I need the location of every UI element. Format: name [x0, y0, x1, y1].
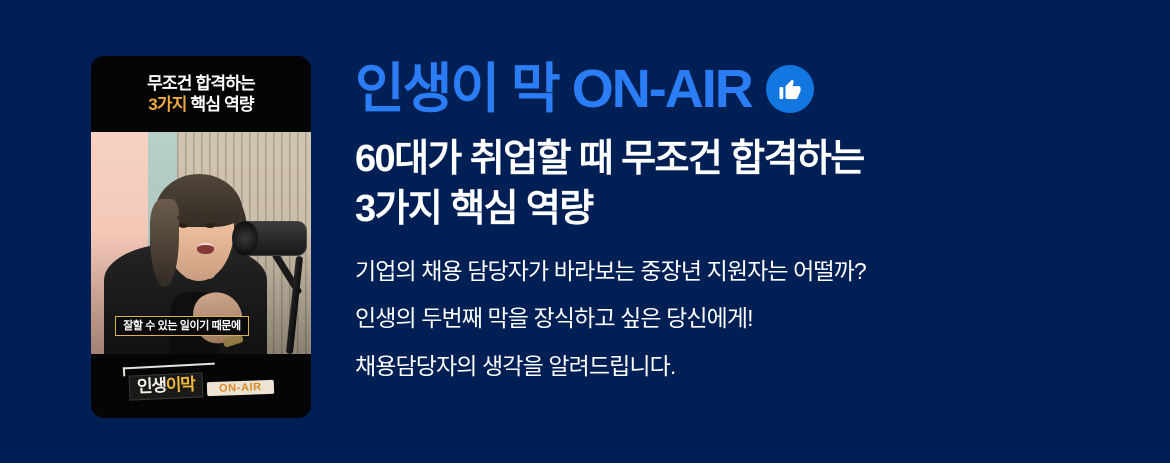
- description-line-1: 기업의 채용 담당자가 바라보는 중장년 지원자는 어떨까?: [355, 258, 1145, 285]
- description-block: 기업의 채용 담당자가 바라보는 중장년 지원자는 어떨까? 인생의 두번째 막…: [355, 258, 1145, 379]
- thumbnail-header-line1: 무조건 합격하는: [147, 74, 255, 93]
- thumbnail-header-accent: 3가지: [148, 95, 186, 114]
- promo-banner: 무조건 합격하는 3가지 핵심 역량: [0, 0, 1170, 463]
- thumbnail-header-line2: 3가지 핵심 역량: [148, 95, 254, 114]
- page-subtitle: 60대가 취업할 때 무조건 합격하는 3가지 핵심 역량: [355, 134, 1145, 234]
- title-row: 인생이 막 ON-AIR: [355, 56, 1145, 122]
- logo-text-gold: 이막: [165, 374, 195, 394]
- logo-text-white: 인생: [136, 376, 166, 396]
- subtitle-line-2: 3가지 핵심 역량: [355, 184, 1145, 234]
- thumbnail-subtitle-caption: 잘할 수 있는 일이기 때문에: [115, 316, 249, 337]
- description-line-2: 인생의 두번째 막을 장식하고 싶은 당신에게!: [355, 305, 1145, 332]
- thumbnail-photo: 잘할 수 있는 일이기 때문에: [91, 132, 311, 354]
- thumbnail-footer: 인생이막 ON-AIR: [91, 354, 311, 418]
- logo-wordmark: 인생이막: [128, 372, 203, 400]
- thumbs-up-icon[interactable]: [766, 65, 814, 113]
- thumbnail-header: 무조건 합격하는 3가지 핵심 역량: [91, 56, 311, 132]
- banner-content: 인생이 막 ON-AIR 60대가 취업할 때 무조건 합격하는 3가지 핵심 …: [355, 56, 1145, 380]
- thumbnail-header-rest: 핵심 역량: [187, 95, 254, 114]
- show-logo: 인생이막 ON-AIR: [129, 374, 274, 399]
- video-thumbnail-card[interactable]: 무조건 합격하는 3가지 핵심 역량: [91, 56, 311, 418]
- logo-onair-badge: ON-AIR: [207, 379, 274, 395]
- description-line-3: 채용담당자의 생각을 알려드립니다.: [355, 353, 1145, 380]
- subtitle-line-1: 60대가 취업할 때 무조건 합격하는: [355, 134, 1145, 184]
- page-title: 인생이 막 ON-AIR: [355, 62, 752, 116]
